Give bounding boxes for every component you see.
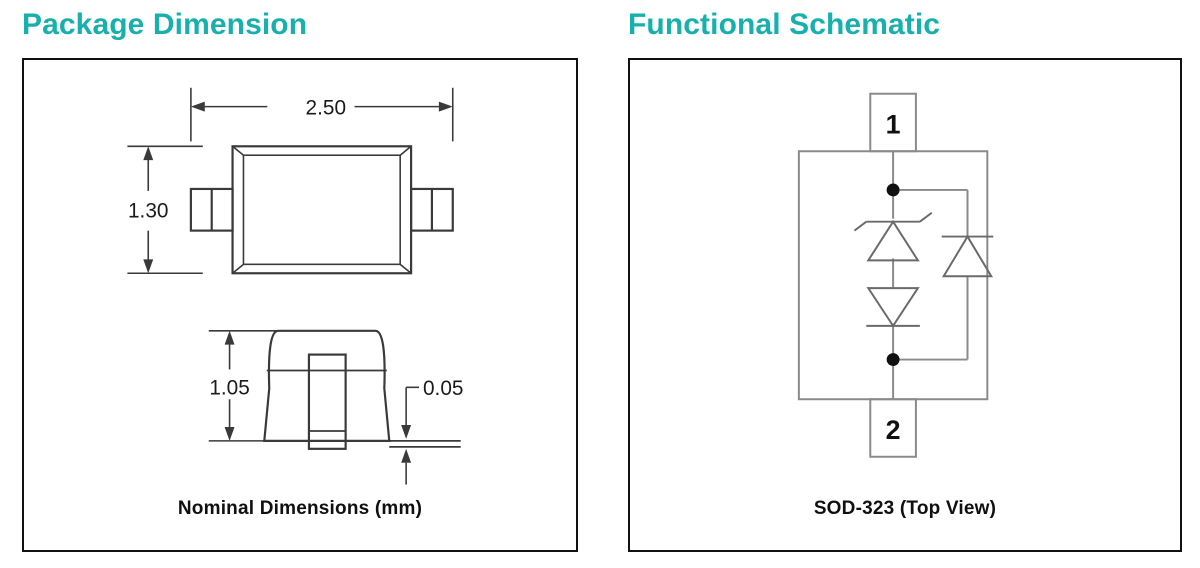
arrowhead-pkgheight-top [225, 331, 235, 345]
pin-2-label: 2 [886, 415, 901, 445]
arrowhead-pkgheight-bottom [225, 427, 235, 441]
junction-dot-top [887, 183, 900, 196]
series-diode-triangle [868, 288, 918, 326]
side-view-group [209, 331, 461, 485]
pin-1-label: 1 [886, 109, 901, 139]
junction-dot-bottom [887, 353, 900, 366]
dim-label-width: 2.50 [306, 97, 347, 120]
dim-label-body-height: 1.30 [128, 200, 169, 223]
parallel-diode-triangle [944, 237, 992, 277]
package-dimension-heading: Package Dimension [22, 8, 307, 42]
top-view-group [127, 88, 452, 273]
package-dimension-drawing: 2.50 1.30 1.05 0.05 [24, 60, 576, 550]
zener-tail-right [920, 213, 932, 222]
arrowhead-standoff-top [401, 425, 411, 439]
dim-label-package-height: 1.05 [209, 376, 250, 399]
arrowhead-height-top [143, 146, 153, 160]
functional-schematic-caption: SOD-323 (Top View) [630, 498, 1180, 520]
bevel-bl [233, 264, 244, 273]
zener-diode-up [854, 213, 931, 261]
functional-schematic-heading: Functional Schematic [628, 8, 940, 42]
arrowhead-width-right [439, 102, 453, 112]
package-body-inner [243, 155, 400, 264]
zener-tail-left [854, 222, 866, 231]
side-body-outline [264, 331, 389, 441]
series-diode-down [866, 288, 920, 326]
arrowhead-standoff-bottom [401, 449, 411, 463]
functional-schematic-drawing: 1 2 [630, 60, 1180, 550]
package-dimension-panel: 2.50 1.30 1.05 0.05 Nominal Dimensions (… [22, 58, 578, 552]
bevel-tl [233, 146, 244, 155]
package-body-outline [233, 146, 412, 273]
arrowhead-height-bottom [143, 259, 153, 273]
bevel-tr [400, 146, 411, 155]
datasheet-figure-page: Package Dimension [0, 0, 1200, 568]
functional-schematic-panel: 1 2 SOD-323 (Top View) [628, 58, 1182, 552]
arrowhead-width-left [191, 102, 205, 112]
dim-label-standoff: 0.05 [423, 377, 464, 400]
zener-triangle [868, 222, 918, 261]
package-dimension-caption: Nominal Dimensions (mm) [24, 498, 576, 520]
side-lead-tab [309, 355, 346, 449]
parallel-diode-up [942, 237, 994, 277]
bevel-br [400, 264, 411, 273]
